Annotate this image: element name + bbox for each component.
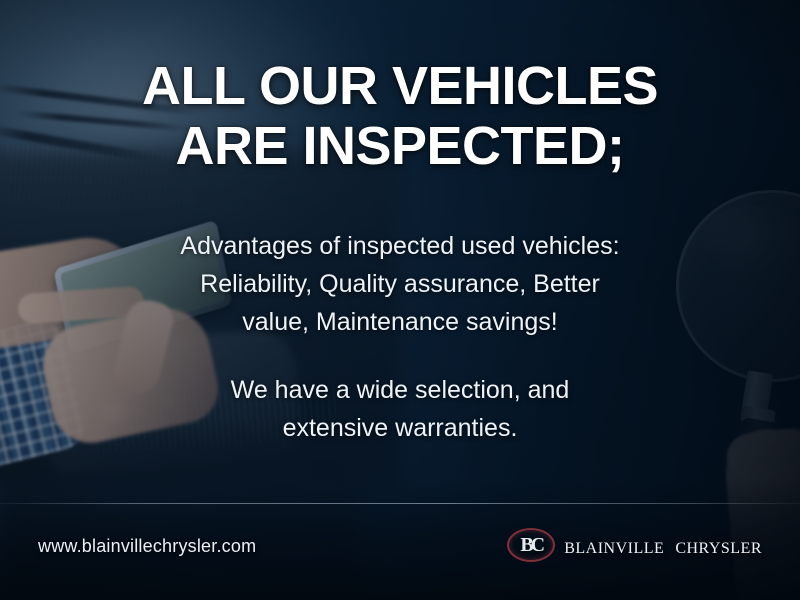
promo-slide: ALL OUR VEHICLES ARE INSPECTED; Advantag… [0, 0, 800, 600]
body-p1-line-1: Advantages of inspected used vehicles: [110, 227, 690, 265]
bc-monogram-icon: BC [507, 528, 555, 562]
logo-monogram-text: BC [507, 528, 555, 562]
logo-word-chrysler: Chrysler [675, 533, 762, 558]
body-p1-line-3: value, Maintenance savings! [110, 303, 690, 341]
body-paragraph-1: Advantages of inspected used vehicles: R… [110, 227, 690, 341]
logo-wordmark: BlainvilleChrysler [564, 534, 762, 557]
logo-word-blainville: Blainville [564, 533, 664, 558]
headline: ALL OUR VEHICLES ARE INSPECTED; [60, 56, 740, 177]
body-p2-line-2: extensive warranties. [110, 409, 690, 447]
brand-logo[interactable]: BC BlainvilleChrysler [507, 528, 762, 562]
headline-line-1: ALL OUR VEHICLES [60, 56, 740, 116]
body-paragraph-2: We have a wide selection, and extensive … [110, 371, 690, 447]
footer-divider [0, 503, 800, 504]
body-p1-line-2: Reliability, Quality assurance, Better [110, 265, 690, 303]
website-url[interactable]: www.blainvillechrysler.com [38, 536, 256, 557]
body-p2-line-1: We have a wide selection, and [110, 371, 690, 409]
slide-content: ALL OUR VEHICLES ARE INSPECTED; Advantag… [0, 0, 800, 600]
body-copy: Advantages of inspected used vehicles: R… [110, 227, 690, 447]
headline-line-2: ARE INSPECTED; [60, 116, 740, 176]
